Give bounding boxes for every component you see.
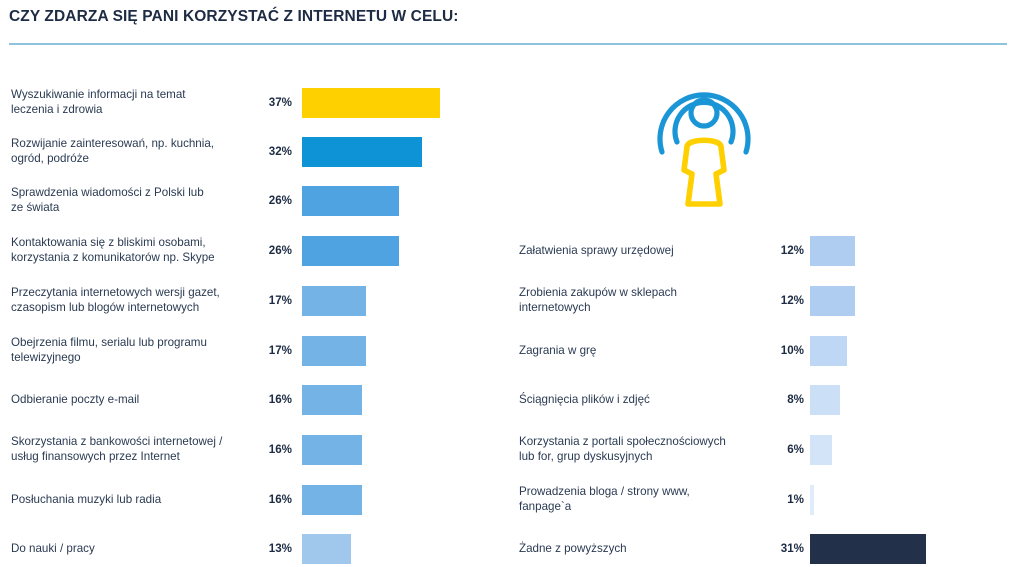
bar-row-value: 26% [248,194,292,207]
bar-row: Rozwijanie zainteresowań, np. kuchnia, o… [0,137,500,167]
bar-row-value: 12% [758,294,804,307]
page-title: CZY ZDARZA SIĘ PANI KORZYSTAĆ Z INTERNET… [9,8,459,26]
bar-row-label: Rozwijanie zainteresowań, np. kuchnia, o… [11,136,256,166]
bar [302,485,362,515]
bar-row-label: Ściągnięcia plików i zdjęć [519,392,769,407]
bar [302,534,351,564]
bar-row-value: 10% [758,344,804,357]
bar-row: Ściągnięcia plików i zdjęć8% [505,385,1016,415]
bar-row-value: 1% [758,493,804,506]
bar-row-label: Sprawdzenia wiadomości z Polski lub ze ś… [11,185,256,215]
bar [302,236,399,266]
bar-row: Odbieranie poczty e-mail16% [0,385,500,415]
bar-row-label: Obejrzenia filmu, serialu lub programu t… [11,335,256,365]
bar-row-label: Zrobienia zakupów w sklepach internetowy… [519,285,769,315]
title-divider [9,43,1007,45]
bar-row: Korzystania z portali społecznościowych … [505,435,1016,465]
bar [810,286,855,316]
bar-row-label: Kontaktowania się z bliskimi osobami, ko… [11,235,256,265]
bar-row-label: Odbieranie poczty e-mail [11,392,256,407]
bar-row: Kontaktowania się z bliskimi osobami, ko… [0,236,500,266]
bar [810,485,814,515]
bar-row-label: Wyszukiwanie informacji na temat leczeni… [11,87,256,117]
bar [302,336,366,366]
bar-row: Obejrzenia filmu, serialu lub programu t… [0,336,500,366]
bar-row-label: Do nauki / pracy [11,541,256,556]
bar [810,435,832,465]
bar-row-value: 26% [248,244,292,257]
bar [810,385,840,415]
bar-row-value: 12% [758,244,804,257]
podcast-icon [650,62,758,207]
bar-row-value: 17% [248,294,292,307]
bar-row-value: 16% [248,493,292,506]
bar-row: Zrobienia zakupów w sklepach internetowy… [505,286,1016,316]
bar-row-label: Przeczytania internetowych wersji gazet,… [11,285,256,315]
bar-row-label: Załatwienia sprawy urzędowej [519,243,769,258]
bar [302,435,362,465]
bar-row-value: 31% [758,542,804,555]
bar [302,385,362,415]
bar-row-label: Zagrania w grę [519,343,769,358]
bar-row-value: 13% [248,542,292,555]
bar-row-label: Korzystania z portali społecznościowych … [519,434,769,464]
bar [302,88,440,118]
bar-row: Posłuchania muzyki lub radia16% [0,485,500,515]
bar-row-value: 6% [758,443,804,456]
bar-row-value: 8% [758,393,804,406]
bar-row-value: 17% [248,344,292,357]
bar-row-label: Żadne z powyższych [519,541,769,556]
bar-row: Wyszukiwanie informacji na temat leczeni… [0,88,500,118]
bar [302,137,422,167]
bar-row: Zagrania w grę10% [505,336,1016,366]
bar-row-value: 37% [248,96,292,109]
bar-row: Załatwienia sprawy urzędowej12% [505,236,1016,266]
bar-row: Żadne z powyższych31% [505,534,1016,564]
bar [302,286,366,316]
bar-row-label: Posłuchania muzyki lub radia [11,492,256,507]
bar [810,534,926,564]
bar-row-label: Skorzystania z bankowości internetowej /… [11,434,256,464]
bar-row: Prowadzenia bloga / strony www, fanpage`… [505,485,1016,515]
bar-row-value: 32% [248,145,292,158]
bar-row-label: Prowadzenia bloga / strony www, fanpage`… [519,484,769,514]
bar [810,336,847,366]
bar [810,236,855,266]
bar-row-value: 16% [248,443,292,456]
bar-row: Sprawdzenia wiadomości z Polski lub ze ś… [0,186,500,216]
bar [302,186,399,216]
bar-row: Skorzystania z bankowości internetowej /… [0,435,500,465]
bar-row-value: 16% [248,393,292,406]
bar-row: Do nauki / pracy13% [0,534,500,564]
bar-row: Przeczytania internetowych wersji gazet,… [0,286,500,316]
